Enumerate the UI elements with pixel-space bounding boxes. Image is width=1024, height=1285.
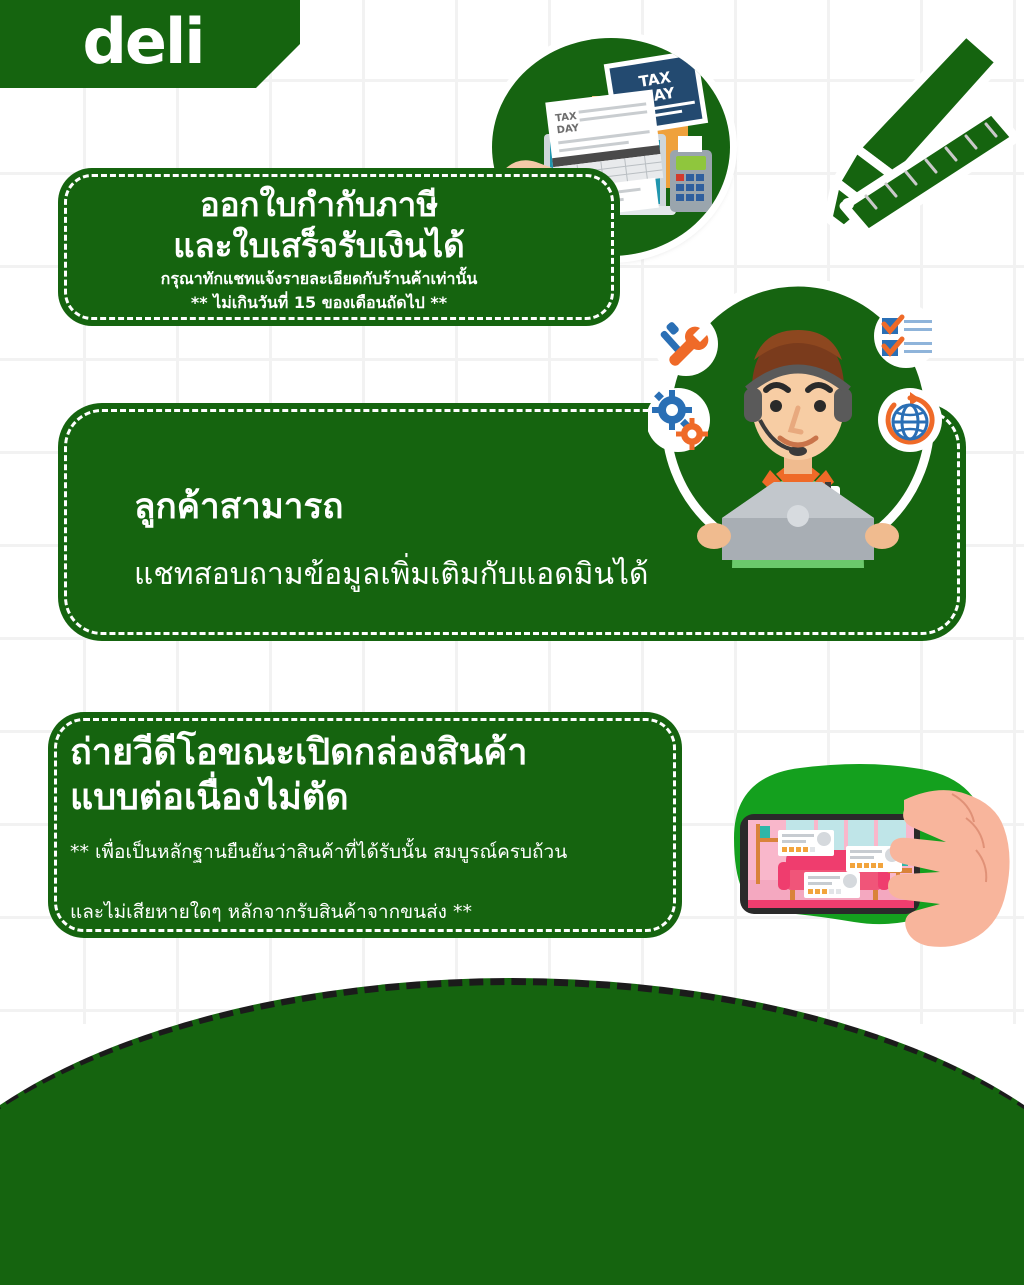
wrench-screwdriver-icon [654, 312, 718, 376]
video-note-1: ** เพื่อเป็นหลักฐานยืนยันว่าสินค้าที่ได้… [70, 840, 567, 865]
card-unboxing-video: ถ่ายวีดีโอขณะเปิดกล่องสินค้า แบบต่อเนื่อ… [48, 712, 682, 938]
brand-logo-banner: deli [0, 0, 300, 88]
invoice-headline-1: ออกใบกำกับภาษี [84, 184, 554, 225]
chat-headline-2: แชทสอบถามข้อมูลเพิ่มเติมกับแอดมินได้ [134, 551, 649, 598]
invoice-headline-2: และใบเสร็จรับเงินได้ [84, 225, 554, 266]
pen-and-ruler-icon [770, 18, 1020, 228]
invoice-note-2: ** ไม่เกินวันที่ 15 ของเดือนถัดไป ** [84, 291, 554, 315]
video-headline-2: แบบต่อเนื่องไม่ตัด [70, 775, 527, 820]
brand-logo-text: deli [83, 11, 204, 73]
gears-icon [648, 388, 710, 452]
bottom-decorative-arc [0, 978, 1024, 1285]
support-agent-illustration [648, 278, 948, 568]
globe-refresh-icon [878, 388, 942, 452]
chat-headline-1: ลูกค้าสามารถ [134, 479, 343, 534]
card-invoice: ออกใบกำกับภาษี และใบเสร็จรับเงินได้ กรุณ… [58, 168, 620, 326]
hand-holding-phone-illustration [690, 752, 1024, 992]
video-note-2: และไม่เสียหายใดๆ หลักจากรับสินค้าจากขนส่… [70, 900, 472, 925]
video-headline-1: ถ่ายวีดีโอขณะเปิดกล่องสินค้า [70, 730, 527, 775]
checklist-icon [874, 304, 938, 368]
invoice-note-1: กรุณาทักแชทแจ้งรายละเอียดกับร้านค้าเท่าน… [84, 267, 554, 291]
